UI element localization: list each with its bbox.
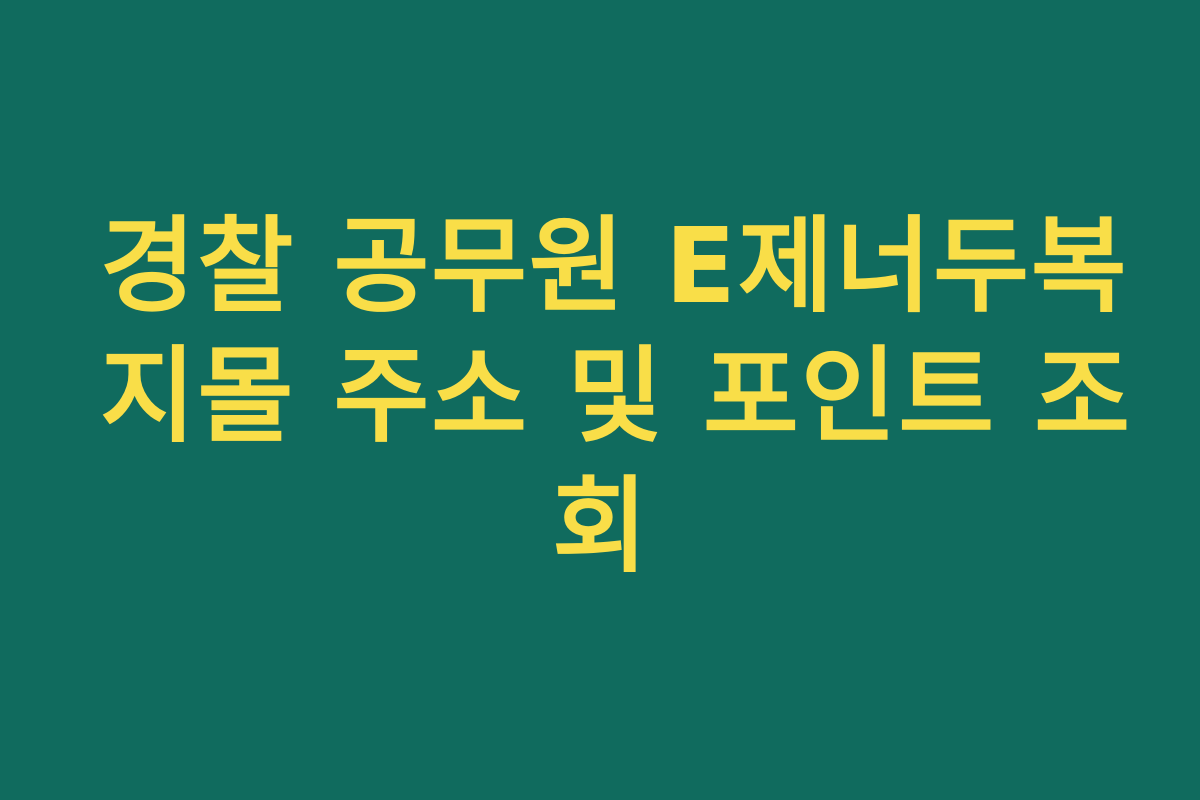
banner-card: 경찰 공무원 E제너두복 지몰 주소 및 포인트 조 회 [0,0,1200,800]
banner-title-line-1: 경찰 공무원 E제너두복 [100,201,1100,331]
banner-title: 경찰 공무원 E제너두복 지몰 주소 및 포인트 조 회 [100,201,1100,591]
banner-title-line-3: 회 [100,461,1100,591]
banner-title-line-2: 지몰 주소 및 포인트 조 [100,331,1100,461]
